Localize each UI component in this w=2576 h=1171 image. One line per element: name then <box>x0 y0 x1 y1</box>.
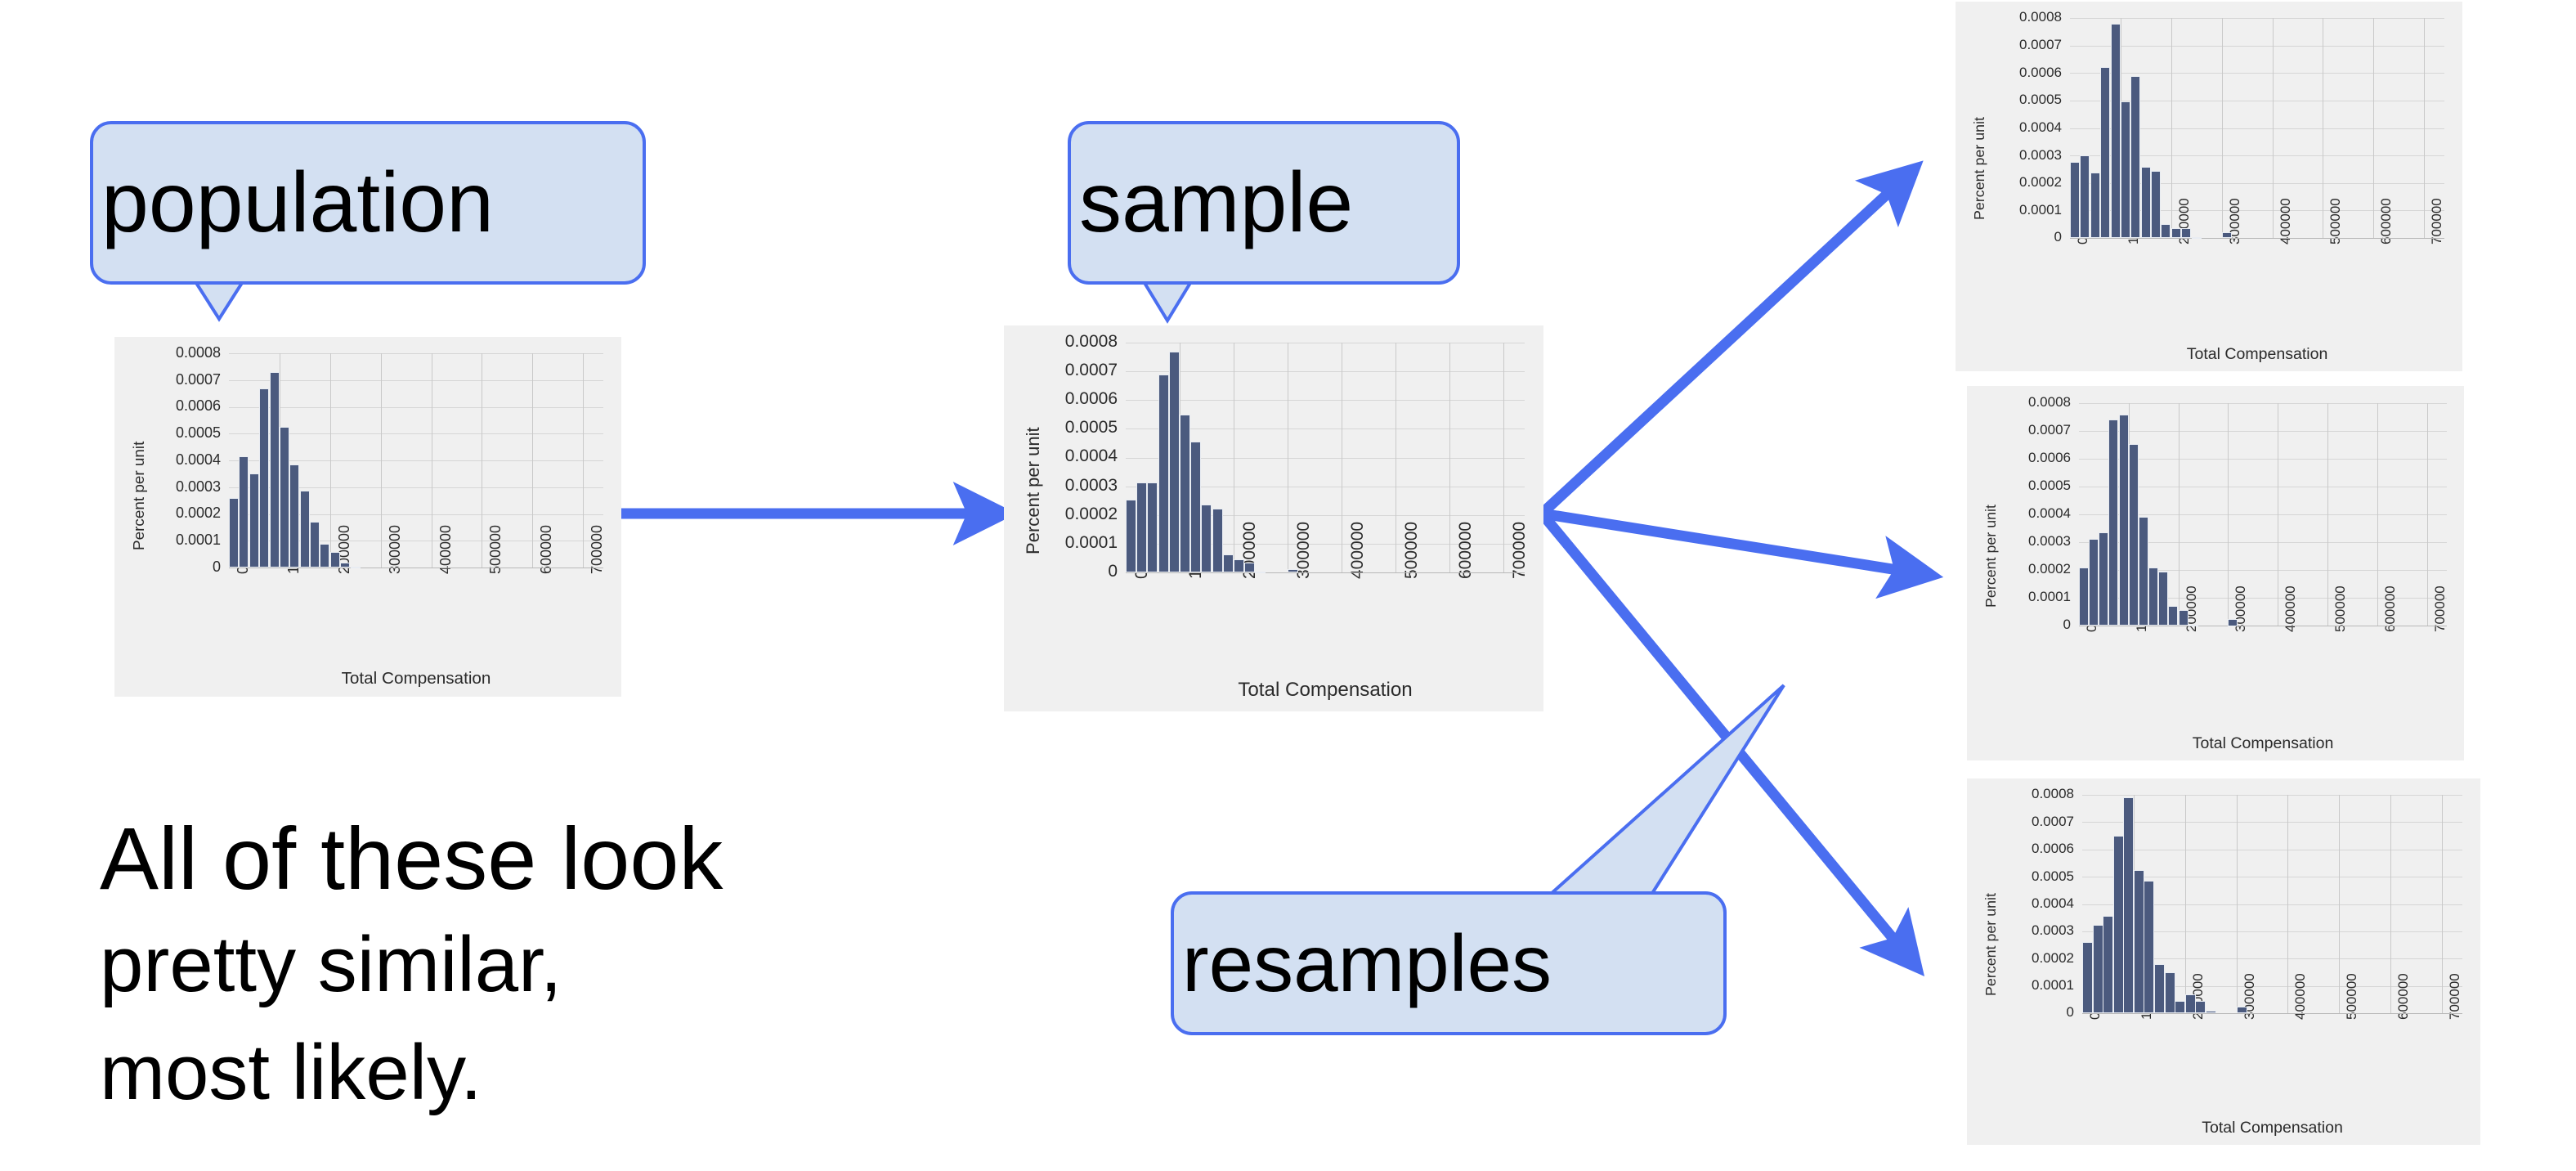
histogram-bar <box>239 456 249 568</box>
x-axis-tick-label: 300000 <box>387 525 404 574</box>
gridline-vertical <box>2427 403 2428 626</box>
gridline-horizontal <box>2079 431 2447 432</box>
gridline-horizontal <box>229 353 603 354</box>
y-axis-tick-label: 0 <box>1004 562 1118 581</box>
note-line-3: most likely. <box>100 1034 482 1112</box>
population-tail-shape <box>196 283 242 319</box>
y-axis-tick-label: 0.0002 <box>1004 505 1118 524</box>
x-axis-tick-label: 600000 <box>538 525 555 574</box>
histogram-bar <box>2228 619 2238 626</box>
histogram-bar <box>1158 375 1169 572</box>
histogram-bar <box>2080 155 2090 238</box>
x-axis-label: Total Compensation <box>1126 679 1525 702</box>
x-axis-line <box>2079 626 2447 626</box>
y-axis-tick-label: 0.0007 <box>1004 361 1118 380</box>
x-axis-tick-label: 400000 <box>437 525 455 574</box>
y-axis-label: Percent per unit <box>1023 427 1044 554</box>
y-axis-tick-label: 0.0007 <box>1967 422 2071 438</box>
histogram-bar <box>259 388 269 568</box>
histogram-bar <box>1223 554 1234 572</box>
x-axis-line <box>2082 1013 2462 1014</box>
gridline-vertical <box>381 353 382 568</box>
histogram-bar <box>2144 881 2154 1013</box>
histogram-bar <box>2151 171 2161 238</box>
gridline-vertical <box>2185 795 2186 1013</box>
gridline-vertical <box>330 353 331 568</box>
y-axis-tick-label: 0.0007 <box>114 371 221 388</box>
histogram-bar <box>1288 569 1298 572</box>
gridline-vertical <box>1503 343 1504 572</box>
histogram-bar <box>2161 224 2171 238</box>
histogram-bar <box>340 563 350 568</box>
slide-canvas: population sample resamples All of these… <box>0 0 2576 1171</box>
histogram-bar <box>2175 1001 2185 1013</box>
y-axis-tick-label: 0.0003 <box>1004 476 1118 496</box>
y-axis-tick-label: 0.0008 <box>1967 394 2071 411</box>
callout-population-label: population <box>93 160 494 245</box>
histogram-bar <box>1169 352 1180 572</box>
gridline-horizontal <box>2082 850 2462 850</box>
y-axis-tick-label: 0.0005 <box>1967 478 2071 494</box>
histogram-bar <box>2195 1001 2206 1013</box>
y-axis-tick-label: 0.0008 <box>1967 786 2074 802</box>
gridline-vertical <box>2228 403 2229 626</box>
histogram-bar <box>2154 964 2165 1013</box>
histogram-bar <box>2168 606 2178 626</box>
histogram-bar <box>1234 559 1244 572</box>
histogram-bar <box>2089 539 2099 626</box>
histogram-bar <box>2179 610 2188 626</box>
y-axis-tick-label: 0.0005 <box>1004 418 1118 437</box>
gridline-vertical <box>432 353 432 568</box>
histogram-bar <box>1212 509 1223 572</box>
gridline-vertical <box>1234 343 1234 572</box>
histogram-bar <box>1180 415 1190 572</box>
gridline-vertical <box>2339 795 2340 1013</box>
gridline-horizontal <box>229 380 603 381</box>
histogram-bar <box>2188 625 2198 626</box>
y-axis-tick-label: 0.0008 <box>1004 332 1118 352</box>
histogram-bar <box>1190 442 1201 572</box>
gridline-vertical <box>2327 403 2328 626</box>
histogram-bar <box>2206 1011 2216 1013</box>
histogram-bar <box>2090 173 2100 238</box>
y-axis-tick-label: 0.0004 <box>1004 446 1118 466</box>
x-axis-tick-label: 700000 <box>1510 522 1530 579</box>
histogram-bar <box>2070 162 2080 238</box>
histogram-bar <box>2123 797 2134 1013</box>
histogram-bar <box>2130 76 2140 238</box>
y-axis-label: Percent per unit <box>1982 893 2000 996</box>
y-axis-tick-label: 0 <box>1967 1004 2074 1021</box>
y-axis-tick-label: 0.0008 <box>1956 9 2062 25</box>
histogram-bar <box>1201 505 1212 572</box>
arrow-sample-to-resample-2 <box>1542 514 1913 572</box>
x-axis-label: Total Compensation <box>2079 734 2447 753</box>
arrow-sample-to-resample-1 <box>1542 182 1901 514</box>
histogram-bar <box>229 498 239 568</box>
y-axis-tick-label: 0 <box>1956 229 2062 245</box>
x-axis-line <box>1126 572 1525 573</box>
y-axis-tick-label: 0.0006 <box>1967 450 2071 466</box>
x-axis-tick-label: 700000 <box>589 525 606 574</box>
x-axis-tick-label: 600000 <box>1456 522 1476 579</box>
histogram-bar <box>249 473 259 568</box>
histogram-bar <box>2158 572 2168 626</box>
gridline-vertical <box>1288 343 1288 572</box>
chart-panel-resample-2[interactable]: 00.00010.00020.00030.00040.00050.00060.0… <box>1967 386 2464 760</box>
x-axis-tick-label: 400000 <box>1348 522 1368 579</box>
histogram-bar <box>2237 1007 2247 1013</box>
gridline-vertical <box>2237 795 2238 1013</box>
y-axis-label: Percent per unit <box>1971 117 1988 220</box>
gridline-horizontal <box>1126 400 1525 401</box>
histogram-bar <box>2108 419 2118 626</box>
gridline-vertical <box>2442 795 2443 1013</box>
note-line-2: pretty similar, <box>100 926 562 1004</box>
histogram-bar <box>330 552 340 568</box>
x-axis-line <box>229 568 603 568</box>
histogram-bar <box>300 491 310 568</box>
x-axis-label: Total Compensation <box>2082 1119 2462 1137</box>
gridline-horizontal <box>2070 46 2444 47</box>
chart-panel-sample[interactable]: 00.00010.00020.00030.00040.00050.00060.0… <box>1004 325 1543 711</box>
x-axis-label: Total Compensation <box>229 669 603 689</box>
histogram-bar <box>289 464 299 568</box>
histogram-bar <box>310 522 320 568</box>
histogram-bar <box>2079 568 2089 626</box>
gridline-horizontal <box>2082 795 2462 796</box>
histogram-bar <box>1244 563 1255 572</box>
histogram-bar <box>2111 24 2121 238</box>
histogram-bar <box>2181 228 2191 238</box>
gridline-horizontal <box>2082 822 2462 823</box>
y-axis-label: Percent per unit <box>1982 505 2000 608</box>
y-axis-tick-label: 0.0006 <box>1967 841 2074 857</box>
y-axis-tick-label: 0.0001 <box>1004 533 1118 553</box>
y-axis-tick-label: 0.0006 <box>1956 65 2062 81</box>
gridline-horizontal <box>229 407 603 408</box>
chart-panel-resample-3[interactable]: 00.00010.00020.00030.00040.00050.00060.0… <box>1967 778 2480 1145</box>
callout-resamples-label: resamples <box>1174 923 1552 1003</box>
y-axis-tick-label: 0.0005 <box>1956 92 2062 108</box>
histogram-bar <box>2100 67 2110 238</box>
histogram-bar <box>2129 444 2139 626</box>
histogram-bar <box>320 544 329 568</box>
arrow-sample-to-resample-3 <box>1542 514 1905 953</box>
callout-population[interactable]: population <box>90 121 646 285</box>
chart-panel-resample-1[interactable]: 00.00010.00020.00030.00040.00050.00060.0… <box>1956 2 2462 371</box>
histogram-bar <box>351 567 361 568</box>
histogram-bar <box>2103 916 2113 1013</box>
gridline-vertical <box>2323 18 2323 238</box>
histogram-bar <box>2222 232 2232 238</box>
histogram-bar <box>2119 415 2129 626</box>
histogram-bar <box>2139 517 2148 626</box>
histogram-bar <box>270 372 280 568</box>
gridline-vertical <box>2273 18 2274 238</box>
gridline-vertical <box>1342 343 1342 572</box>
y-axis-tick-label: 0.0005 <box>1967 868 2074 885</box>
histogram-bar <box>2148 568 2158 626</box>
histogram-bar <box>2099 532 2108 626</box>
gridline-vertical <box>2171 18 2172 238</box>
gridline-vertical <box>2287 795 2288 1013</box>
histogram-bar <box>1255 572 1266 573</box>
x-axis-line <box>2070 238 2444 239</box>
gridline-vertical <box>1449 343 1450 572</box>
callout-resamples[interactable]: resamples <box>1171 891 1727 1035</box>
histogram-bar <box>2171 228 2181 238</box>
chart-panel-population[interactable]: 00.00010.00020.00030.00040.00050.00060.0… <box>114 337 621 697</box>
gridline-vertical <box>532 353 533 568</box>
x-axis-tick-label: 500000 <box>1402 522 1422 579</box>
gridline-horizontal <box>2079 403 2447 404</box>
y-axis-label: Percent per unit <box>131 442 149 550</box>
gridline-vertical <box>482 353 482 568</box>
y-axis-tick-label: 0 <box>1967 617 2071 633</box>
y-axis-tick-label: 0.0008 <box>114 344 221 361</box>
histogram-bar <box>1147 482 1158 572</box>
callout-sample-label: sample <box>1071 160 1353 245</box>
gridline-vertical <box>2278 403 2278 626</box>
gridline-vertical <box>2373 18 2374 238</box>
y-axis-tick-label: 0 <box>114 559 221 576</box>
y-axis-tick-label: 0.0007 <box>1967 814 2074 830</box>
gridline-horizontal <box>1126 343 1525 343</box>
gridline-horizontal <box>1126 371 1525 372</box>
histogram-bar <box>2082 942 2093 1013</box>
gridline-vertical <box>2179 403 2180 626</box>
gridline-vertical <box>2222 18 2223 238</box>
gridline-vertical <box>2424 18 2425 238</box>
histogram-bar <box>1136 482 1147 572</box>
histogram-bar <box>2192 237 2202 239</box>
histogram-bar <box>1126 500 1136 572</box>
y-axis-tick-label: 0.0006 <box>114 397 221 415</box>
note-line-1: All of these look <box>100 814 723 903</box>
histogram-bar <box>2141 167 2151 238</box>
y-axis-tick-label: 0.0005 <box>114 424 221 442</box>
x-axis-label: Total Compensation <box>2070 345 2444 364</box>
resamples-tail-shape <box>1550 685 1784 895</box>
y-axis-tick-label: 0.0006 <box>1004 389 1118 409</box>
gridline-vertical <box>1396 343 1396 572</box>
histogram-bar <box>2121 101 2130 238</box>
gridline-vertical <box>583 353 584 568</box>
gridline-horizontal <box>2070 73 2444 74</box>
y-axis-tick-label: 0.0007 <box>1956 37 2062 53</box>
gridline-vertical <box>2390 795 2391 1013</box>
callout-sample[interactable]: sample <box>1068 121 1460 285</box>
gridline-horizontal <box>2070 18 2444 19</box>
gridline-vertical <box>2377 403 2378 626</box>
sample-tail-shape <box>1145 283 1190 321</box>
x-axis-tick-label: 500000 <box>487 525 504 574</box>
histogram-bar <box>280 427 289 568</box>
